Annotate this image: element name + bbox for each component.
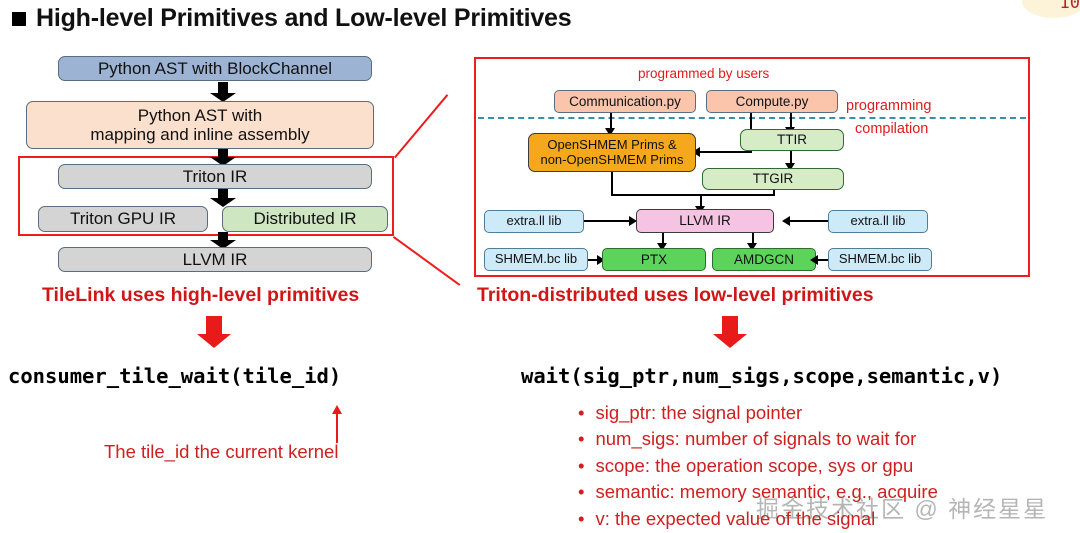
arrow-down-4 bbox=[210, 232, 236, 248]
annotation-up-arrow-icon bbox=[330, 405, 344, 443]
edge-extrall-right-to-llvm bbox=[790, 220, 830, 222]
node-label: Python AST with BlockChannel bbox=[98, 59, 332, 78]
node-compute-py[interactable]: Compute.py bbox=[706, 90, 838, 113]
node-extra-ll-lib-right[interactable]: extra.ll lib bbox=[828, 210, 928, 233]
right-caption: Triton-distributed uses low-level primit… bbox=[477, 284, 874, 307]
node-label: Triton IR bbox=[183, 167, 248, 186]
node-extra-ll-lib-left[interactable]: extra.ll lib bbox=[484, 210, 584, 233]
list-item: • num_sigs: number of signals to wait fo… bbox=[578, 426, 938, 452]
bullet-glyph: • bbox=[578, 400, 584, 426]
node-amdgcn[interactable]: AMDGCN bbox=[712, 248, 816, 271]
node-ttir[interactable]: TTIR bbox=[740, 129, 844, 151]
node-llvm-ir[interactable]: LLVM IR bbox=[58, 247, 372, 272]
edge-ttgir-to-llvm-h bbox=[700, 194, 775, 196]
arrow-down-3 bbox=[210, 189, 236, 206]
node-label: LLVM IR bbox=[679, 213, 731, 228]
node-label: extra.ll lib bbox=[507, 214, 562, 229]
arrow-down-2 bbox=[210, 149, 236, 165]
edge-compute-elbow-h bbox=[700, 151, 752, 153]
bullet-glyph: • bbox=[578, 479, 584, 505]
node-python-ast-mapping[interactable]: Python AST with mapping and inline assem… bbox=[26, 101, 374, 149]
list-item: • sig_ptr: the signal pointer bbox=[578, 400, 938, 426]
slide-canvas: High-level Primitives and Low-level Prim… bbox=[0, 0, 1080, 533]
list-item-text: sig_ptr: the signal pointer bbox=[595, 400, 802, 426]
node-distributed-ir[interactable]: Distributed IR bbox=[222, 206, 388, 232]
node-label: Compute.py bbox=[736, 94, 809, 109]
node-openshmem-prims[interactable]: OpenSHMEM Prims & non-OpenSHMEM Prims bbox=[528, 133, 696, 172]
node-label: extra.ll lib bbox=[851, 214, 906, 229]
node-label: TTGIR bbox=[753, 171, 794, 186]
callout-line-top bbox=[394, 94, 448, 158]
right-code-line: wait(sig_ptr,num_sigs,scope,semantic,v) bbox=[521, 364, 1002, 388]
page-title-text: High-level Primitives and Low-level Prim… bbox=[36, 4, 571, 33]
bullet-glyph: • bbox=[578, 453, 584, 479]
label-programming: programming bbox=[846, 98, 931, 114]
bullet-glyph: • bbox=[578, 426, 584, 452]
page-title: High-level Primitives and Low-level Prim… bbox=[12, 4, 571, 33]
watermark: 掘金技术社区 @ 神经星星 bbox=[756, 490, 1048, 524]
list-item-text: num_sigs: number of signals to wait for bbox=[595, 426, 916, 452]
node-label-line2: non-OpenSHMEM Prims bbox=[540, 153, 683, 168]
node-shmem-bc-lib-left[interactable]: SHMEM.bc lib bbox=[484, 248, 588, 271]
node-triton-ir[interactable]: Triton IR bbox=[58, 164, 372, 189]
node-label-line1: OpenSHMEM Prims & bbox=[547, 138, 676, 153]
node-label: Triton GPU IR bbox=[70, 209, 176, 228]
node-label: Communication.py bbox=[569, 94, 681, 109]
edge-extrall-left-to-llvm bbox=[584, 220, 632, 222]
node-shmem-bc-lib-right[interactable]: SHMEM.bc lib bbox=[828, 248, 932, 271]
arrow-down-1 bbox=[210, 82, 236, 102]
left-caption: TileLink uses high-level primitives bbox=[42, 284, 359, 307]
node-label: SHMEM.bc lib bbox=[495, 252, 577, 267]
node-communication-py[interactable]: Communication.py bbox=[554, 90, 696, 113]
bullet-glyph: • bbox=[578, 506, 584, 532]
node-label: PTX bbox=[641, 252, 667, 267]
arrowhead-left bbox=[810, 255, 818, 265]
left-code-line: consumer_tile_wait(tile_id) bbox=[8, 364, 341, 388]
right-panel-header-label: programmed by users bbox=[638, 66, 769, 81]
label-compilation: compilation bbox=[855, 121, 928, 137]
callout-line-bottom bbox=[393, 236, 461, 286]
node-ttgir[interactable]: TTGIR bbox=[702, 168, 844, 190]
node-label: LLVM IR bbox=[183, 250, 248, 269]
title-bullet-icon bbox=[12, 12, 26, 26]
node-label: Distributed IR bbox=[254, 209, 357, 228]
node-label: AMDGCN bbox=[734, 252, 794, 267]
list-item-text: scope: the operation scope, sys or gpu bbox=[595, 453, 913, 479]
node-label-line1: Python AST with bbox=[138, 106, 262, 125]
node-label: SHMEM.bc lib bbox=[839, 252, 921, 267]
slide-number: 10 bbox=[1060, 0, 1080, 13]
node-label: TTIR bbox=[777, 132, 807, 147]
node-label-line2: mapping and inline assembly bbox=[90, 125, 309, 144]
node-triton-gpu-ir[interactable]: Triton GPU IR bbox=[38, 206, 208, 232]
node-ptx[interactable]: PTX bbox=[602, 248, 706, 271]
arrowhead-left bbox=[782, 216, 790, 226]
left-annotation: The tile_id the current kernel bbox=[104, 441, 338, 463]
node-llvm-ir-right[interactable]: LLVM IR bbox=[636, 209, 774, 233]
edge-openshmem-to-llvm-v bbox=[611, 172, 613, 196]
node-python-ast-blockchannel[interactable]: Python AST with BlockChannel bbox=[58, 56, 372, 81]
list-item: • scope: the operation scope, sys or gpu bbox=[578, 453, 938, 479]
